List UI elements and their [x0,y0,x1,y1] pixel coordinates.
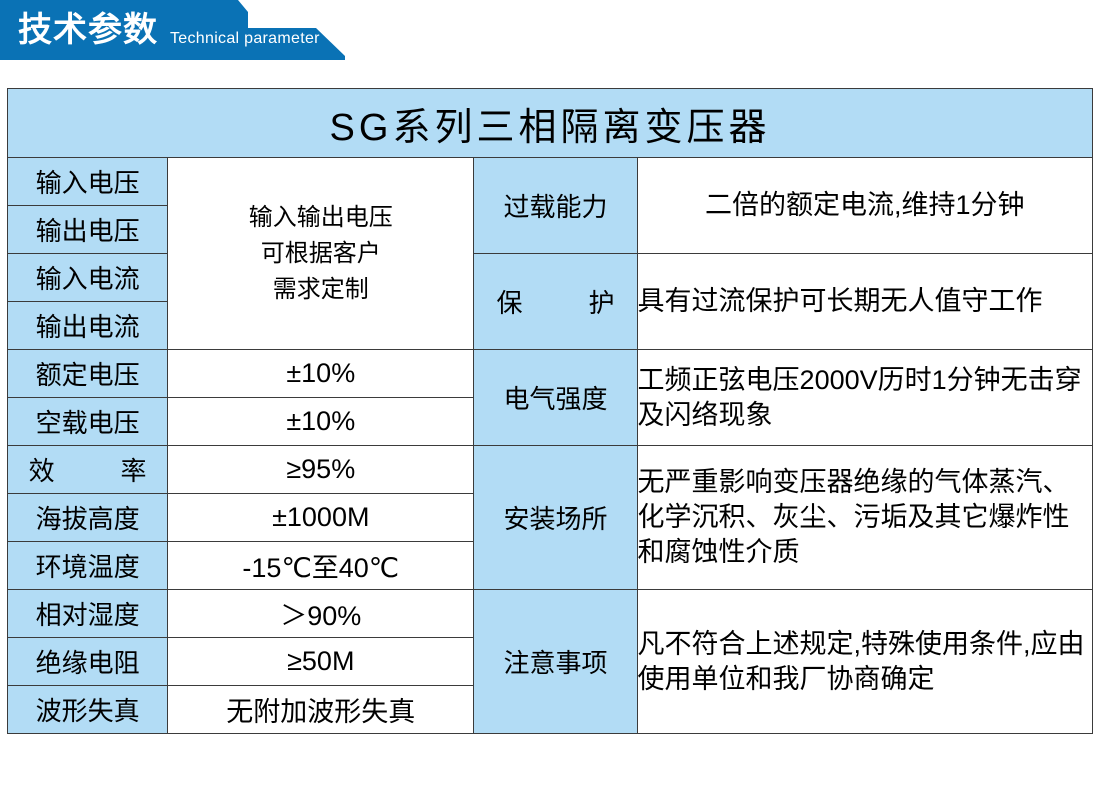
row-label-protection-text: 保 护 [496,283,614,320]
row-label-input-voltage: 输入电压 [8,158,168,206]
row-label-insulation-resistance: 绝缘电阻 [8,638,168,686]
row-value-noload-voltage: ±10% [168,398,474,446]
row-label-rated-voltage: 额定电压 [8,350,168,398]
merged-note-line-1: 输入输出电压 [168,200,473,236]
row-value-precautions: 凡不符合上述规定,特殊使用条件,应由使用单位和我厂协商确定 [637,590,1092,734]
table-row: 输入电压 输入输出电压 可根据客户 需求定制 过载能力 二倍的额定电流,维持1分… [8,158,1093,206]
row-label-output-voltage: 输出电压 [8,206,168,254]
banner-subtitle: Technical parameter [170,30,320,48]
row-label-relative-humidity: 相对湿度 [8,590,168,638]
row-label-efficiency: 效 率 [8,446,168,494]
row-label-altitude: 海拔高度 [8,494,168,542]
row-label-overload-capacity: 过载能力 [474,158,637,254]
table-row: 相对湿度 ＞90% 注意事项 凡不符合上述规定,特殊使用条件,应由使用单位和我厂… [8,590,1093,638]
row-value-efficiency: ≥95% [168,446,474,494]
row-value-altitude: ±1000M [168,494,474,542]
row-value-relative-humidity: ＞90% [168,590,474,638]
row-value-overload-capacity: 二倍的额定电流,维持1分钟 [637,158,1092,254]
page-header-banner: 技术参数 Technical parameter [0,0,1100,60]
row-label-noload-voltage: 空载电压 [8,398,168,446]
row-value-rated-voltage: ±10% [168,350,474,398]
merged-note-line-3: 需求定制 [168,272,473,308]
table-row: 效 率 ≥95% 安装场所 无严重影响变压器绝缘的气体蒸汽、化学沉积、灰尘、污垢… [8,446,1093,494]
table-title-row: SG系列三相隔离变压器 [8,89,1093,158]
row-label-waveform-distortion: 波形失真 [8,686,168,734]
merged-note-line-2: 可根据客户 [168,236,473,272]
row-label-electrical-strength: 电气强度 [474,350,637,446]
row-label-protection: 保 护 [474,254,637,350]
table-row: 额定电压 ±10% 电气强度 工频正弦电压2000V历时1分钟无击穿及闪络现象 [8,350,1093,398]
row-label-efficiency-text: 效 率 [29,451,147,488]
row-label-output-current: 输出电流 [8,302,168,350]
banner-title: 技术参数 [18,11,158,49]
row-value-installation-site: 无严重影响变压器绝缘的气体蒸汽、化学沉积、灰尘、污垢及其它爆炸性和腐蚀性介质 [637,446,1092,590]
row-label-precautions: 注意事项 [474,590,637,734]
row-label-input-current: 输入电流 [8,254,168,302]
row-value-waveform-distortion: 无附加波形失真 [168,686,474,734]
row-value-protection: 具有过流保护可长期无人值守工作 [637,254,1092,350]
row-label-installation-site: 安装场所 [474,446,637,590]
row-label-ambient-temperature: 环境温度 [8,542,168,590]
technical-parameter-table: SG系列三相隔离变压器 输入电压 输入输出电压 可根据客户 需求定制 过载能力 … [7,88,1093,734]
table-title: SG系列三相隔离变压器 [8,89,1093,158]
row-value-ambient-temperature: -15℃至40℃ [168,542,474,590]
row-value-insulation-resistance: ≥50M [168,638,474,686]
row-value-electrical-strength: 工频正弦电压2000V历时1分钟无击穿及闪络现象 [637,350,1092,446]
merged-note-cell: 输入输出电压 可根据客户 需求定制 [168,158,474,350]
